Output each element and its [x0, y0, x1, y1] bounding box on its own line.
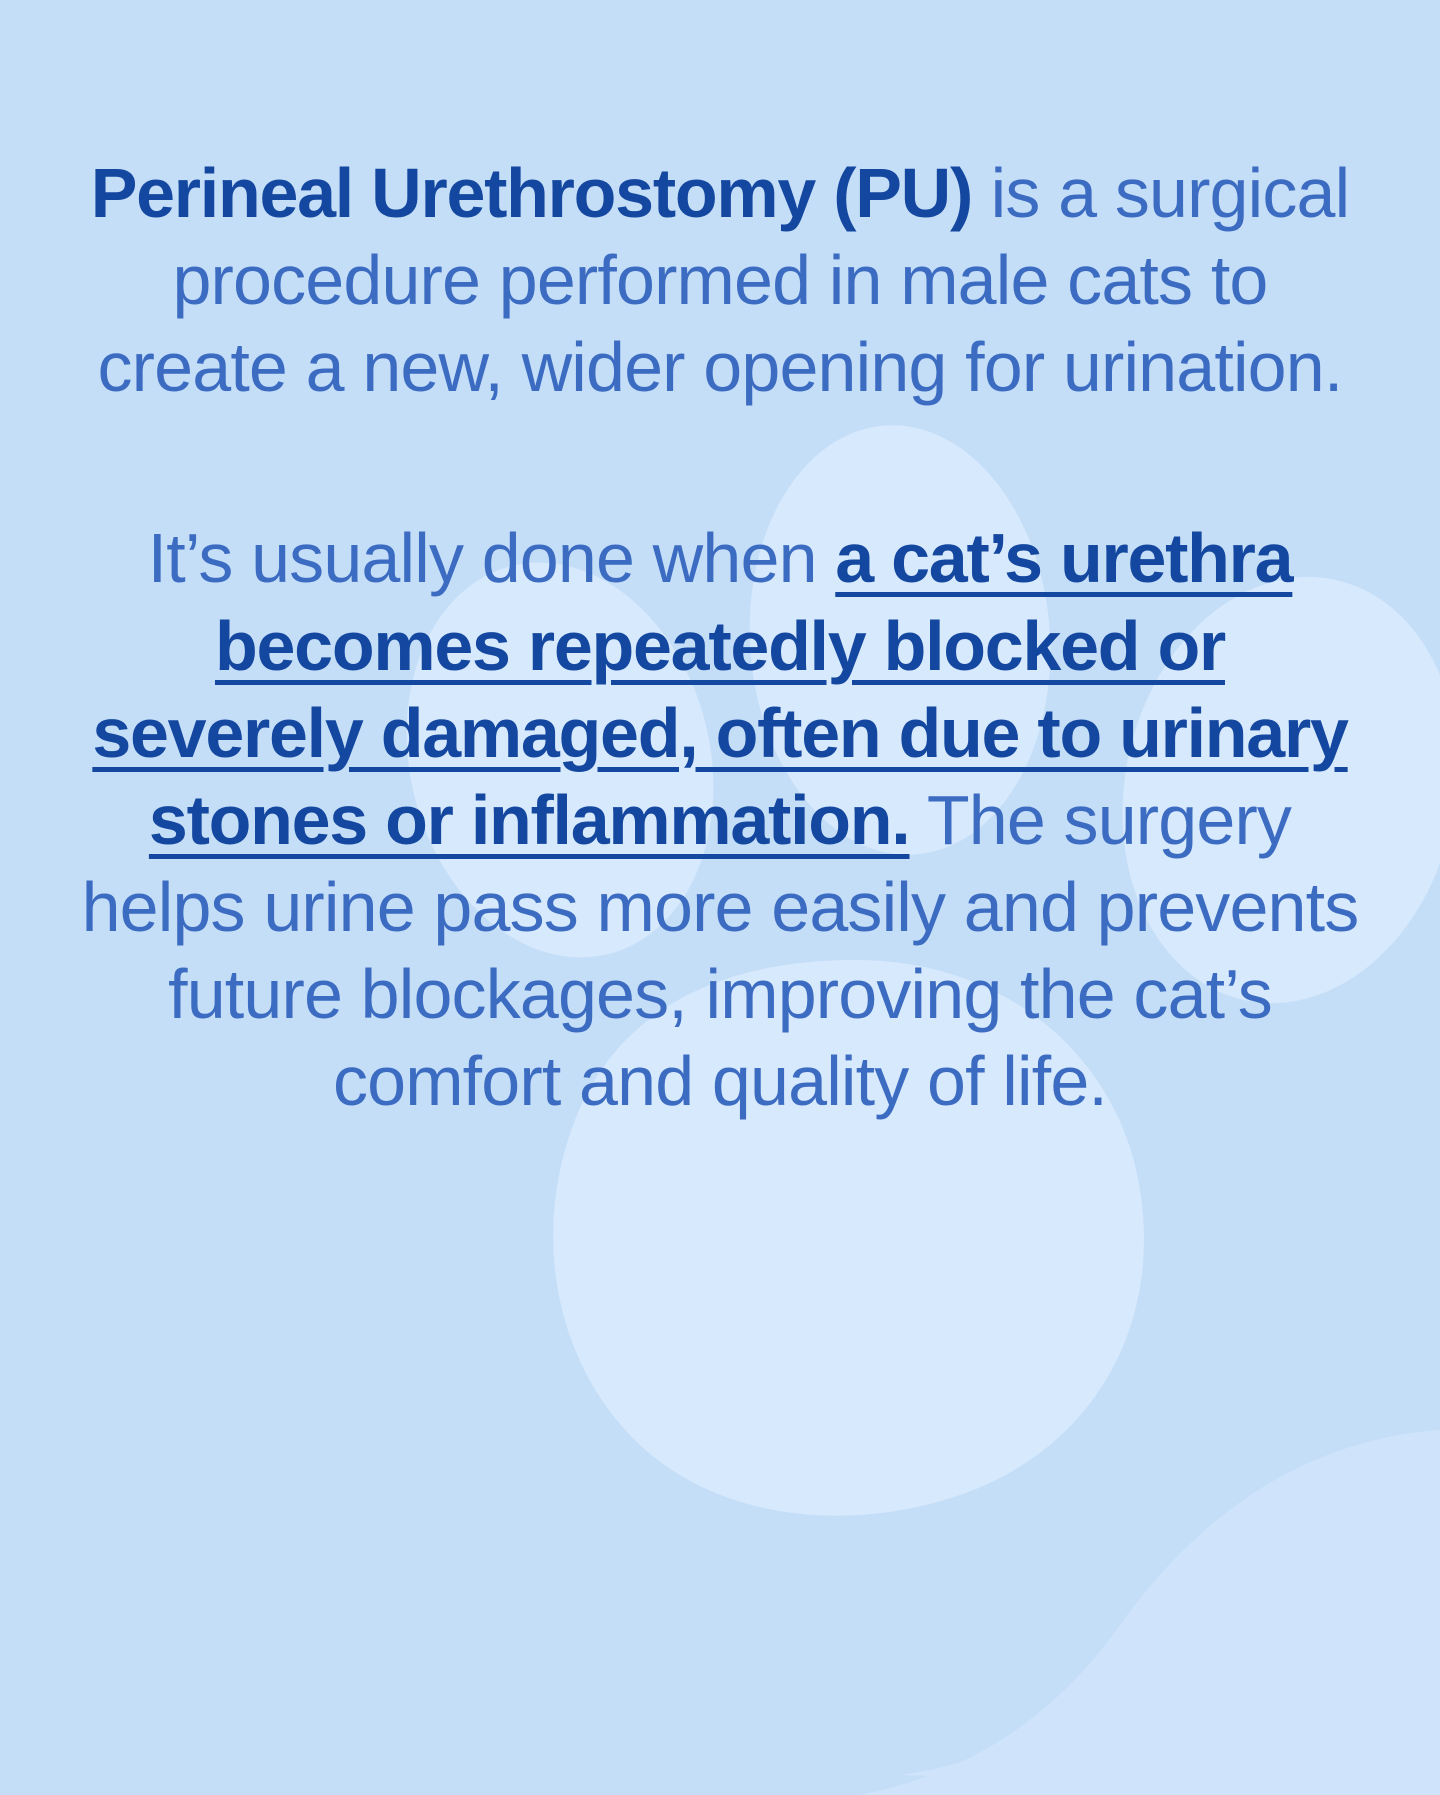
paragraph-intro: Perineal Urethrostomy (PU) is a surgical… [72, 0, 1368, 411]
detail-lead-text: It’s usually done when [148, 519, 836, 597]
paragraph-detail: It’s usually done when a cat’s urethra b… [72, 411, 1368, 1125]
corner-wave-bottom-right-shape [900, 1460, 1440, 1795]
info-card: Perineal Urethrostomy (PU) is a surgical… [0, 0, 1440, 1795]
page-title: Perineal Urethrostomy (PU) [91, 154, 972, 232]
text-content: Perineal Urethrostomy (PU) is a surgical… [0, 0, 1440, 1125]
corner-wave-bottom-right-shape-2 [860, 1430, 1440, 1795]
